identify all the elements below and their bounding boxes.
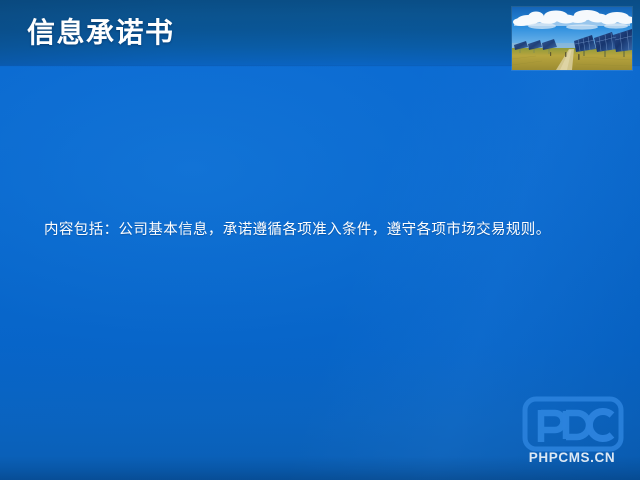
- slide-canvas: 信息承诺书: [0, 0, 640, 480]
- slide-body-text: 内容包括：公司基本信息，承诺遵循各项准入条件，遵守各项市场交易规则。: [44, 219, 604, 241]
- phpcms-watermark: PHPCMS.CN: [511, 396, 633, 468]
- phpcms-logo-icon: PHPCMS.CN: [511, 396, 633, 468]
- solar-panel-farm-photo: [512, 7, 632, 70]
- solar-panel-farm-illustration: [512, 7, 632, 70]
- slide-title: 信息承诺书: [27, 14, 175, 52]
- phpcms-wordmark: PHPCMS.CN: [529, 450, 615, 465]
